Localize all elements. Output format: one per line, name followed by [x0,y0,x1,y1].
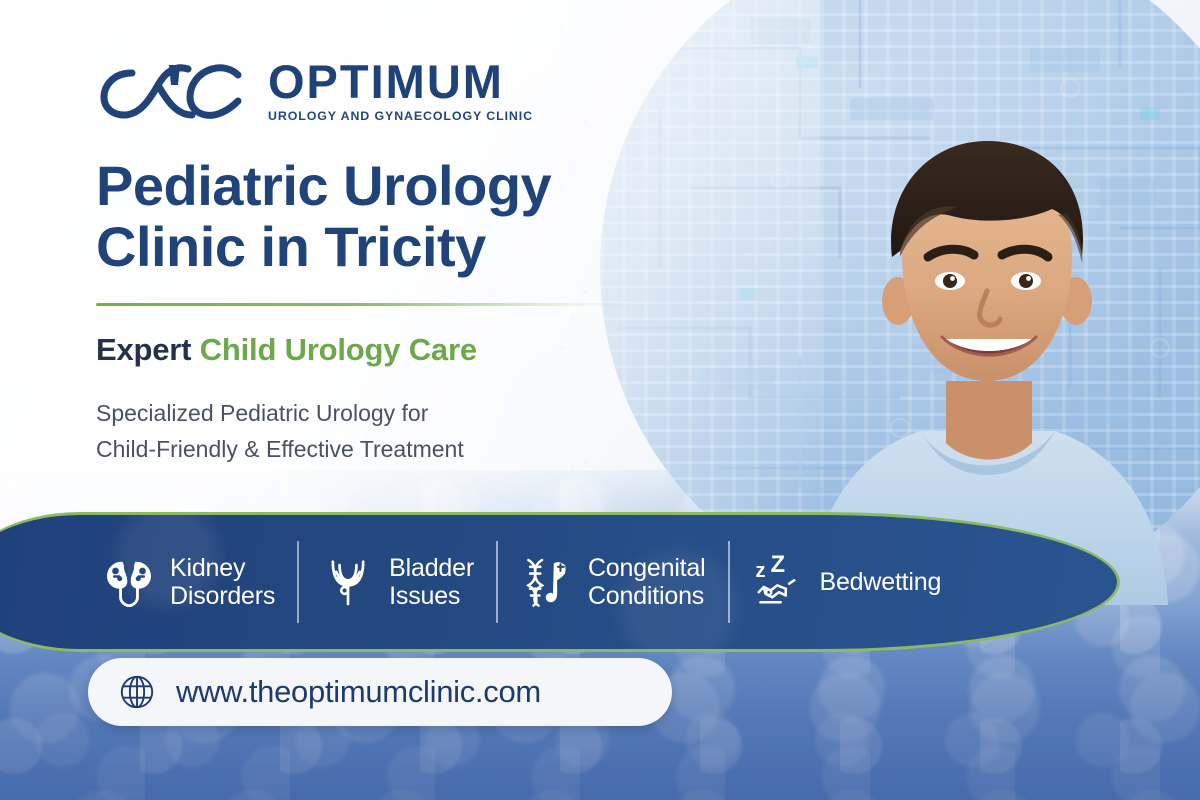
brand-tagline: UROLOGY AND GYNAECOLOGY CLINIC [268,110,533,122]
subheadline-prefix: Expert [96,332,200,367]
description-line-1: Specialized Pediatric Urology for [96,400,428,426]
service-label-bladder-issues: Bladder Issues [389,554,474,610]
page-title: Pediatric Urology Clinic in Tricity [96,156,696,277]
description: Specialized Pediatric Urology for Child-… [96,396,696,467]
bedwetting-icon: z Z [752,555,806,609]
service-item-kidney-disorders[interactable]: Kidney Disorders [80,541,297,623]
globe-icon [118,673,156,711]
logo[interactable]: OPTIMUM UROLOGY AND GYNAECOLOGY CLINIC [96,58,696,122]
service-label-line-2: Disorders [170,582,275,610]
service-label-line-2: Conditions [588,582,706,610]
brand-name: OPTIMUM [268,58,533,105]
service-item-bedwetting[interactable]: z Z Bedwetting [728,541,964,623]
services-panel: Kidney Disorders Bladder [0,512,1120,652]
service-label-line-1: Bladder [389,554,474,582]
kidney-icon [102,555,156,609]
service-label-line-1: Bedwetting [820,568,942,596]
subheadline: Expert Child Urology Care [96,332,696,368]
service-label-kidney-disorders: Kidney Disorders [170,554,275,610]
dna-icon [520,555,574,609]
service-item-bladder-issues[interactable]: Bladder Issues [297,541,496,623]
service-label-bedwetting: Bedwetting [820,568,942,596]
headline-line-2: Clinic in Tricity [96,217,696,277]
website-pill[interactable]: www.theoptimumclinic.com [88,658,672,726]
service-label-line-1: Kidney [170,554,245,582]
description-line-2: Child-Friendly & Effective Treatment [96,432,696,468]
service-label-congenital-conditions: Congenital Conditions [588,554,706,610]
subheadline-accent: Child Urology Care [200,332,477,367]
bladder-icon [321,555,375,609]
services-list: Kidney Disorders Bladder [80,512,970,652]
promotional-banner: OPTIMUM UROLOGY AND GYNAECOLOGY CLINIC P… [0,0,1200,800]
service-label-line-1: Congenital [588,554,706,582]
optimum-monogram-icon [96,59,246,121]
hero-content: OPTIMUM UROLOGY AND GYNAECOLOGY CLINIC P… [96,58,696,468]
svg-text:Z: Z [770,555,784,578]
website-url: www.theoptimumclinic.com [176,674,541,710]
headline-line-1: Pediatric Urology [96,154,551,217]
title-divider [96,303,636,306]
service-item-congenital-conditions[interactable]: Congenital Conditions [496,541,728,623]
service-label-line-2: Issues [389,582,474,610]
svg-text:z: z [755,560,765,582]
